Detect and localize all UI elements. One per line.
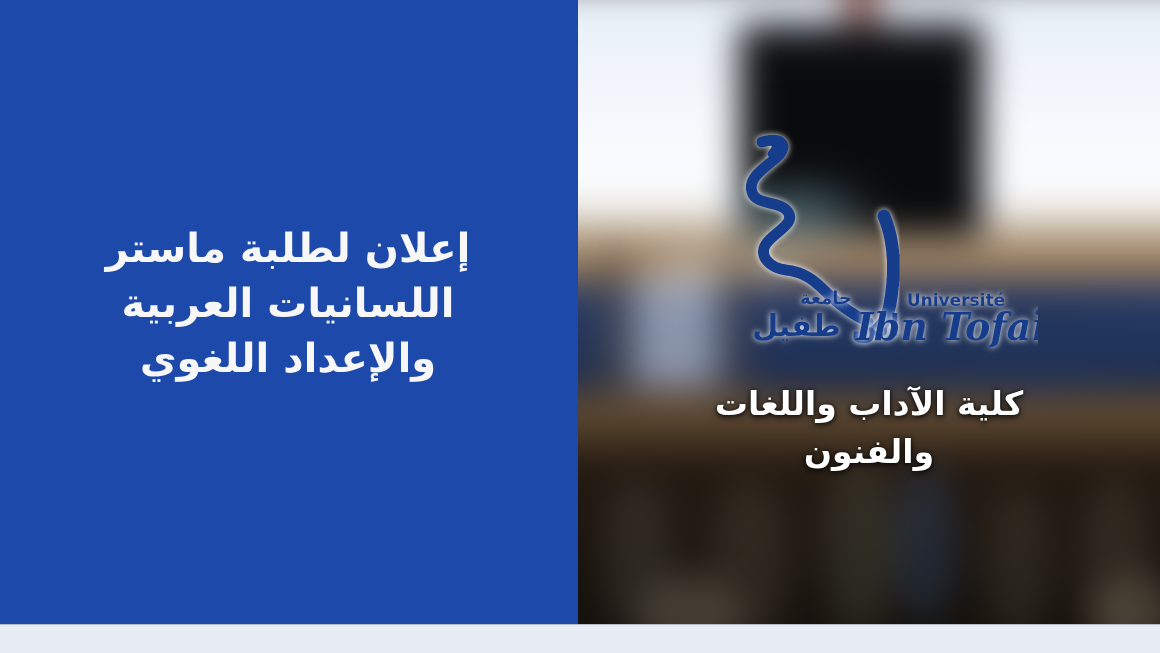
banner-image: إعلان لطلبة ماستر اللسانيات العربية والإ… [0,0,1160,653]
headline-line-3: والإعداد اللغوي [18,332,558,387]
faculty-name: كلية الآداب واللغات والفنون [578,380,1160,476]
right-content-column: جامعة ابن طفيل Université Ibn Tofaïl كلي… [578,0,1160,624]
university-logo: جامعة ابن طفيل Université Ibn Tofaïl [718,128,1038,368]
bottom-strip [0,624,1160,653]
headline-line-1: إعلان لطلبة ماستر [18,222,558,277]
logo-arabic-jamia: جامعة [800,288,852,309]
logo-latin-ibn-tofail: Ibn Tofaïl [855,304,1038,349]
faculty-line-1: كلية الآداب واللغات [578,380,1160,428]
headline-line-2: اللسانيات العربية [18,277,558,332]
announcement-headline: إعلان لطلبة ماستر اللسانيات العربية والإ… [18,222,558,388]
left-blue-panel: إعلان لطلبة ماستر اللسانيات العربية والإ… [0,0,578,624]
faculty-line-2: والفنون [578,428,1160,476]
